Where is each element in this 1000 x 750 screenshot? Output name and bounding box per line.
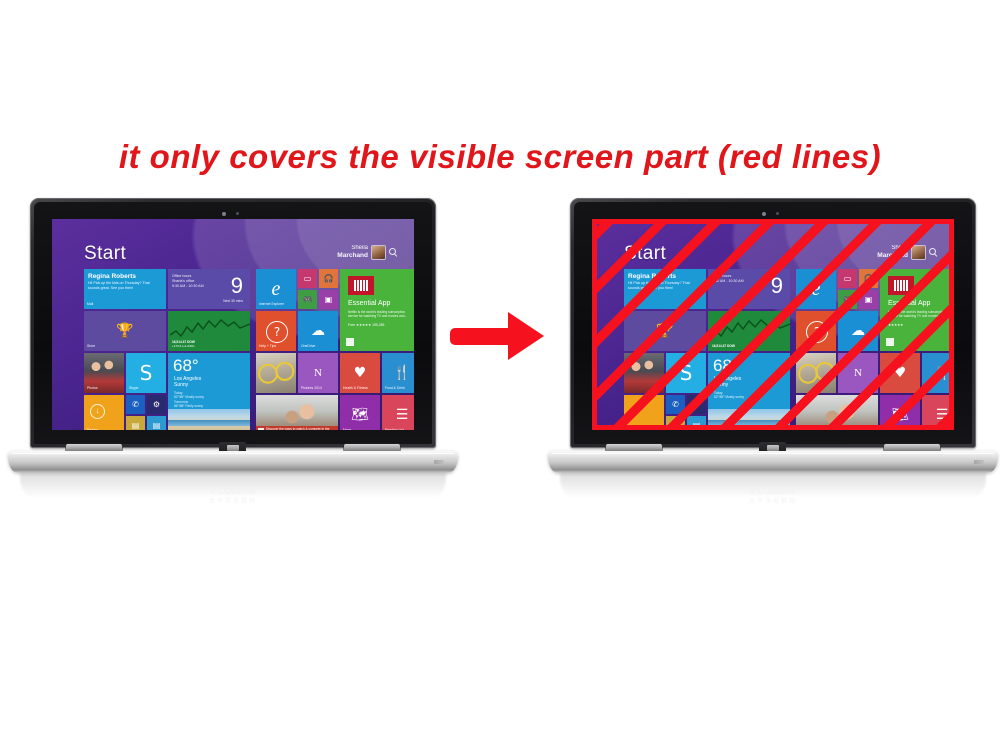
scanner-icon: ▤ [666, 416, 685, 430]
weather-condition: Sunny [174, 382, 188, 388]
document-icon: ▤ [687, 416, 706, 430]
tile-sports[interactable]: Discover the ways to watch & compete in … [796, 395, 878, 430]
finance-value: 16,514.37 DOW [712, 344, 787, 348]
tile-help-tips[interactable]: ? [796, 311, 836, 351]
trophy-icon: 🏆 [624, 311, 706, 351]
headphones-icon: 🎧 [859, 269, 878, 288]
netflix-logo-icon [348, 276, 374, 295]
camera-icon: ▣ [859, 290, 878, 309]
tile-group-3: Essential App Netflix is the world's lea… [340, 269, 414, 430]
weather-condition: Sunny [714, 382, 728, 388]
tile-photos[interactable]: Photos [84, 353, 124, 393]
tile-music[interactable]: 🎧 [859, 269, 878, 288]
video-icon: ▭ [838, 269, 857, 288]
tile-finance[interactable]: 16,514.37 DOW [708, 311, 790, 351]
tile-scan[interactable]: ▤ [666, 416, 685, 430]
tile-essential-app[interactable]: Essential App Netflix is the world's lea… [880, 269, 954, 351]
tile-scan[interactable]: ▤ [126, 416, 145, 430]
sports-caption: Discover the ways to watch & compete in … [256, 426, 338, 430]
tile-skype[interactable]: S [666, 353, 706, 393]
calendar-title: Office hours [172, 274, 191, 278]
tile-label: Photos [87, 386, 98, 391]
tile-internet-explorer[interactable]: e [796, 269, 836, 309]
video-icon: ▭ [298, 269, 317, 288]
list-icon: ☰ [922, 395, 954, 430]
internet-explorer-icon: e [796, 269, 836, 309]
user-first-name: Sheila [891, 245, 908, 251]
headline-text: it only covers the visible screen part (… [0, 138, 1000, 176]
tile-onedrive[interactable]: ☁ [838, 311, 878, 351]
tile-onedrive[interactable]: ☁ OneDrive [298, 311, 338, 351]
essential-app-price: Free [348, 323, 355, 327]
tile-label: Food & Drink [385, 386, 405, 391]
laptop-without-overlay: Start Sheila Marchand Regina Roberts Hi [8, 198, 458, 498]
essential-app-title: Essential App [348, 300, 390, 307]
weather-tomorrow-label: Tomorrow [174, 400, 188, 404]
weather-photo [708, 409, 790, 430]
user-name: Sheila Marchand [877, 245, 908, 259]
tile-essential-app[interactable]: Essential App Netflix is the world's lea… [340, 269, 414, 351]
tile-games[interactable]: 🎮 [298, 290, 317, 309]
tile-mail[interactable]: Regina Roberts Hi! Pick up the kids on T… [84, 269, 166, 309]
onenote-icon: N [838, 353, 878, 393]
tile-label: Pictures 2014 [301, 386, 322, 391]
question-mark-icon: ? [266, 321, 288, 343]
tile-label: Store [87, 344, 95, 349]
laptop-lid: Start Sheila Marchand Regina Roberts Hi [30, 198, 436, 448]
mail-preview: Hi! Pick up the kids on Thursday? That s… [88, 281, 162, 290]
star-rating-icon: ★★★★★ [356, 323, 371, 327]
gamepad-icon: 🎮 [298, 290, 317, 309]
tile-reading-list[interactable]: ☰ Reading List [382, 395, 414, 430]
fork-icon: 🍴 [922, 353, 954, 393]
laptop-base [8, 451, 458, 473]
tile-reader-small[interactable]: ▤ [147, 416, 166, 430]
status-led-icon [434, 460, 444, 464]
search-icon[interactable] [389, 248, 398, 257]
avatar[interactable] [372, 246, 385, 259]
tile-store[interactable]: 🏆 Store [84, 311, 166, 351]
laptop-with-overlay: Start Sheila Marchand Regina Roberts Hi!… [548, 198, 998, 498]
tile-calendar[interactable]: Office hours 9:30 AM - 10:30 AM 9 [708, 269, 790, 309]
tile-onenote[interactable]: N [838, 353, 878, 393]
weather-tomorrow-value: 86°/68° Partly sunny [174, 404, 203, 408]
laptop-base [548, 451, 998, 473]
calendar-title: Office hours [712, 274, 731, 278]
user-first-name: Sheila [351, 245, 368, 251]
netflix-logo-icon [888, 276, 914, 295]
tile-phone[interactable]: ✆ [666, 395, 685, 414]
family-photo [796, 395, 878, 430]
tile-reader[interactable] [624, 395, 664, 430]
tile-internet-explorer[interactable]: e Internet Explorer [256, 269, 296, 309]
tile-label: Mail [87, 302, 93, 307]
tile-pictures[interactable] [796, 353, 836, 393]
finance-sparkline-icon [170, 315, 250, 341]
calendar-sub: Sharla's office [172, 279, 194, 283]
start-title: Start [84, 243, 126, 265]
tile-health-fitness[interactable]: ♥ [880, 353, 920, 393]
tile-photos[interactable] [624, 353, 664, 393]
tile-video[interactable]: ▭ [838, 269, 857, 288]
calendar-count-label: Next 30 mins [223, 299, 243, 303]
tile-weather[interactable]: 68° Los Angeles Sunny Today 82°/65° Most… [168, 353, 250, 430]
star-rating-icon: ★★★★★ [888, 323, 903, 327]
family-photo [256, 395, 338, 430]
user-name: Sheila Marchand [337, 245, 368, 259]
tile-settings[interactable]: ⚙ [687, 395, 706, 414]
arrow-head [508, 312, 544, 360]
search-icon[interactable] [929, 248, 938, 257]
tile-maps[interactable]: 🗺 [880, 395, 920, 430]
watermark: PCOnline 太平洋电脑网 [185, 486, 281, 518]
tile-store[interactable]: 🏆 [624, 311, 706, 351]
tile-weather[interactable]: 68° Los Angeles Sunny Today 82°/65° Most… [708, 353, 790, 430]
calendar-headline: Office hours Sharla's office 9:30 AM - 1… [172, 274, 218, 288]
tile-grid: Regina Roberts Hi! Pick up the kids on T… [624, 269, 944, 404]
mail-preview: Hi! Pick up the kids on Thursday? That s… [628, 281, 702, 290]
tile-food-drink[interactable]: 🍴 Food & Drink [382, 353, 414, 393]
tile-food-drink[interactable]: 🍴 [922, 353, 954, 393]
tile-skype[interactable]: S Skype [126, 353, 166, 393]
weather-temp: 68° [173, 357, 199, 374]
watermark-line2: 太平洋电脑网 [725, 497, 821, 508]
finance-values: 16,514.37 DOW [712, 344, 787, 348]
calendar-count: 9 [231, 275, 243, 297]
tile-onenote[interactable]: N Pictures 2014 [298, 353, 338, 393]
avatar[interactable] [912, 246, 925, 259]
screen-left: Start Sheila Marchand Regina Roberts Hi [52, 219, 414, 430]
tile-finance[interactable]: 16,514.37 DOW +170.6 (+1.04%) [168, 311, 250, 351]
tile-camera[interactable]: ▣ [859, 290, 878, 309]
tile-camera[interactable]: ▣ [319, 290, 338, 309]
right-arrow-icon [450, 312, 560, 360]
gear-icon: ⚙ [147, 395, 166, 414]
tile-group-1: Regina Roberts Hi! Pick up the kids on T… [624, 269, 794, 399]
question-mark-icon: ? [806, 321, 828, 343]
tile-label: Internet Explorer [259, 302, 284, 307]
skype-icon: S [666, 353, 706, 393]
essential-app-rating: ★★★★★ [888, 323, 903, 327]
tile-group-1: Regina Roberts Hi! Pick up the kids on T… [84, 269, 254, 399]
gear-icon: ⚙ [687, 395, 706, 414]
gamepad-icon: 🎮 [838, 290, 857, 309]
calendar-time: 9:30 AM - 10:30 AM [712, 279, 744, 283]
essential-app-rating: Free ★★★★★ 195,285 [348, 323, 384, 327]
phone-icon: ✆ [666, 395, 685, 414]
weather-photo [168, 409, 250, 430]
tile-mail[interactable]: Regina Roberts Hi! Pick up the kids on T… [624, 269, 706, 309]
weather-city: Los Angeles Sunny [714, 376, 741, 388]
watermark-line1: PCOnline [751, 486, 796, 496]
finance-values: 16,514.37 DOW +170.6 (+1.04%) [172, 340, 247, 348]
finance-change: +170.6 (+1.04%) [172, 344, 194, 348]
store-badge-icon [346, 338, 354, 346]
cloud-icon: ☁ [838, 311, 878, 351]
tile-settings[interactable]: ⚙ [147, 395, 166, 414]
scanner-icon: ▤ [126, 416, 145, 430]
calendar-time: 9:30 AM - 10:30 AM [172, 284, 204, 288]
tile-maps[interactable]: 🗺 Maps [340, 395, 380, 430]
bike-photo [796, 353, 836, 393]
essential-app-body: Netflix is the world's leading subscript… [348, 310, 414, 319]
illustration-canvas: it only covers the visible screen part (… [0, 0, 1000, 750]
trophy-icon: 🏆 [84, 311, 166, 351]
tile-sports[interactable]: Discover the ways to watch & compete in … [256, 395, 338, 430]
status-led-icon [974, 460, 984, 464]
webcam-icon [762, 212, 784, 216]
weather-today-value: 82°/65° Mostly sunny [714, 395, 744, 399]
weather-city: Los Angeles Sunny [174, 376, 201, 388]
user-account[interactable]: Sheila Marchand [337, 245, 398, 259]
weather-today-value: 82°/65° Mostly sunny [174, 395, 204, 399]
finance-sparkline-icon [710, 315, 790, 341]
essential-app-title: Essential App [888, 300, 930, 307]
tile-games[interactable]: 🎮 [838, 290, 857, 309]
tile-group-3: Essential App Netflix is the world's lea… [880, 269, 954, 430]
weather-forecast: Today 82°/65° Mostly sunny Tomorrow 86°/… [174, 391, 204, 409]
tile-pictures[interactable] [256, 353, 296, 393]
user-last-name: Marchand [877, 252, 908, 259]
webcam-icon [222, 212, 244, 216]
calendar-headline: Office hours 9:30 AM - 10:30 AM [712, 274, 758, 284]
essential-app-body: Netflix is the world's leading subscript… [888, 310, 954, 319]
down-arrow-icon[interactable]: ↓ [90, 404, 105, 419]
phone-icon: ✆ [126, 395, 145, 414]
weather-today-label: Today [714, 391, 723, 395]
essential-app-rating-count: 195,285 [372, 323, 384, 327]
mail-sender: Regina Roberts [88, 273, 136, 280]
calendar-count: 9 [771, 275, 783, 297]
heart-icon: ♥ [880, 353, 920, 393]
list-icon: ☰ [382, 395, 414, 430]
watermark-line2: 太平洋电脑网 [185, 497, 281, 508]
map-icon: 🗺 [340, 395, 380, 430]
sports-caption: Discover the ways to watch & compete in … [796, 426, 878, 430]
tile-label: Reader [87, 428, 98, 430]
tile-grid: Regina Roberts Hi! Pick up the kids on T… [84, 269, 404, 404]
map-icon: 🗺 [880, 395, 920, 430]
start-title: Start [624, 243, 666, 265]
tile-calendar[interactable]: Office hours Sharla's office 9:30 AM - 1… [168, 269, 250, 309]
tile-label: Skype [129, 386, 138, 391]
tile-health-fitness[interactable]: ♥ Health & Fitness [340, 353, 380, 393]
watermark: PCOnline 太平洋电脑网 [725, 486, 821, 518]
tile-label: Help + Tips [259, 344, 276, 349]
tile-label: Health & Fitness [343, 386, 368, 391]
user-last-name: Marchand [337, 252, 368, 259]
user-account[interactable]: Sheila Marchand [877, 245, 938, 259]
bike-photo [256, 353, 296, 393]
headphones-icon: 🎧 [319, 269, 338, 288]
tile-reader-small[interactable]: ▤ [687, 416, 706, 430]
tile-label: Reading List [385, 428, 404, 430]
tile-phone[interactable]: ✆ [126, 395, 145, 414]
tile-help-tips[interactable]: ? Help + Tips [256, 311, 296, 351]
document-icon: ▤ [147, 416, 166, 430]
weather-temp: 68° [713, 357, 739, 374]
store-badge-icon [886, 338, 894, 346]
weather-today-label: Today [174, 391, 183, 395]
weather-forecast: Today 82°/65° Mostly sunny [714, 391, 744, 400]
mail-sender: Regina Roberts [628, 273, 676, 280]
watermark-line1: PCOnline [211, 486, 256, 496]
screen-right: Start Sheila Marchand Regina Roberts Hi!… [592, 219, 954, 430]
camera-icon: ▣ [319, 290, 338, 309]
laptop-lid: Start Sheila Marchand Regina Roberts Hi!… [570, 198, 976, 448]
tile-label: OneDrive [301, 344, 315, 349]
tile-reading-list[interactable]: ☰ [922, 395, 954, 430]
tile-label: Maps [343, 428, 351, 430]
tile-video[interactable]: ▭ [298, 269, 317, 288]
tile-music[interactable]: 🎧 [319, 269, 338, 288]
photo-thumbnail [624, 353, 664, 393]
